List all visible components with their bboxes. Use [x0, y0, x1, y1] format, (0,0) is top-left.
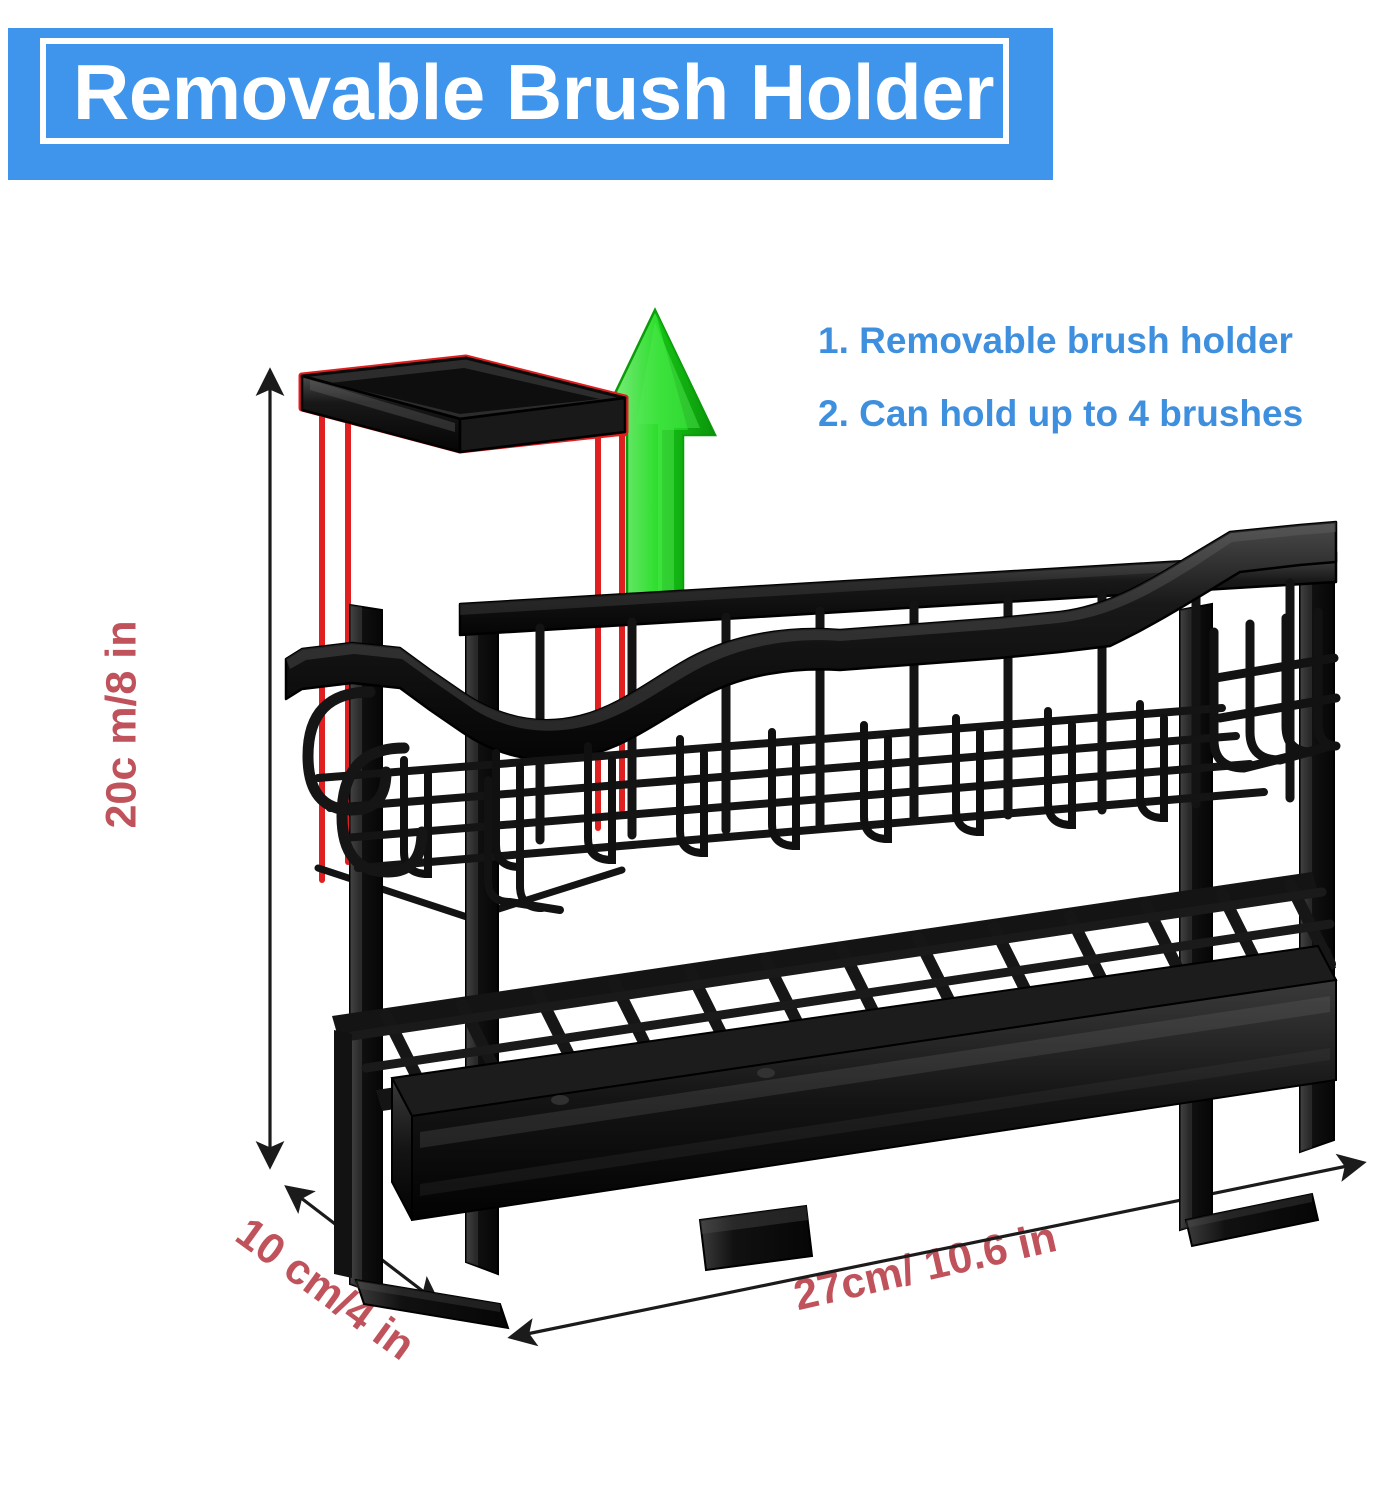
page-title: Removable Brush Holder — [73, 53, 994, 131]
product-illustration — [0, 180, 1382, 1495]
dimension-arrow-width — [512, 1163, 1362, 1337]
banner: Removable Brush Holder — [8, 28, 1053, 180]
sink-caddy-product — [286, 358, 1336, 1328]
